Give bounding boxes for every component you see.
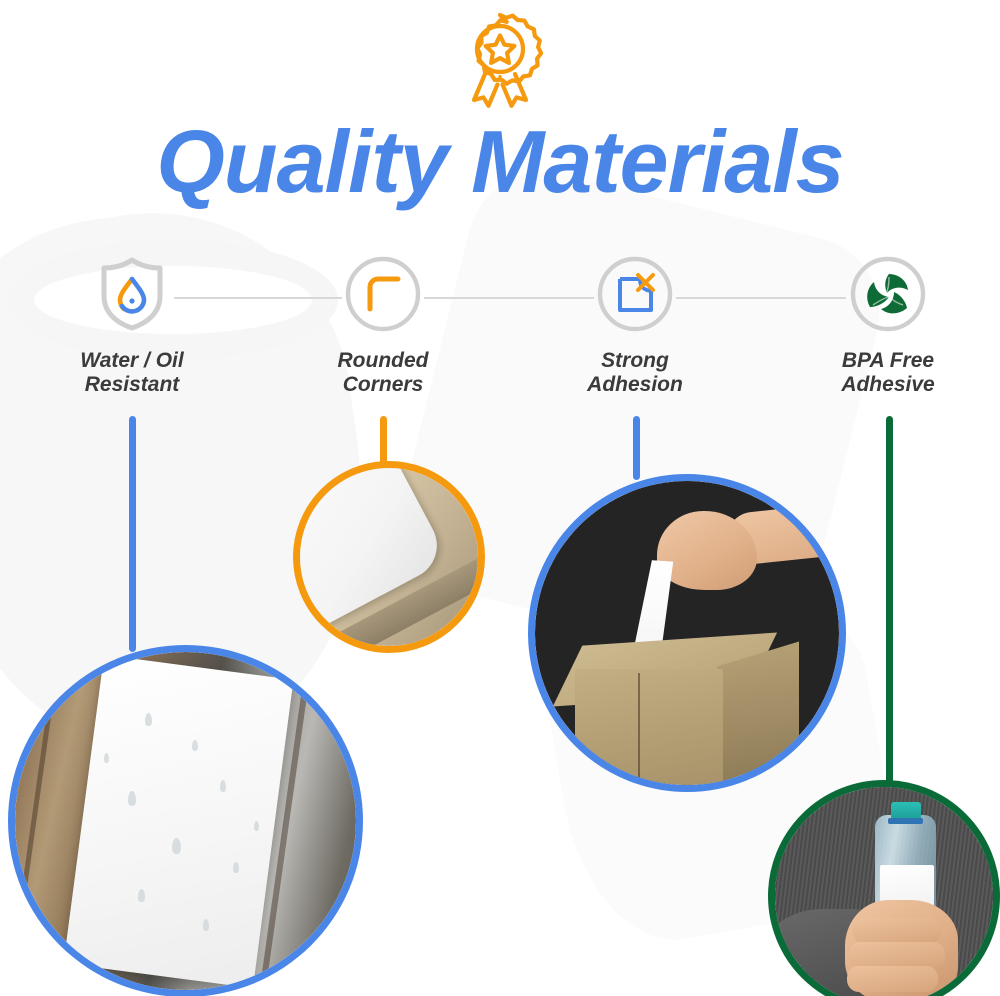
feature-water-oil-resistant: Water / Oil Resistant bbox=[37, 255, 227, 398]
page-title: Quality Materials bbox=[0, 118, 1000, 206]
rounded-corner-label-closeup-photo bbox=[293, 461, 485, 653]
rounded-corner-icon bbox=[344, 255, 422, 333]
hand-holding-labeled-bottle-photo bbox=[768, 780, 1000, 996]
hand-peeling-label-from-box-photo bbox=[528, 474, 846, 792]
connector-stem-bpa-free-adhesive bbox=[886, 416, 893, 784]
connector-stem-strong-adhesion bbox=[633, 416, 640, 480]
three-leaf-recycle-icon bbox=[849, 255, 927, 333]
feature-bpa-free-adhesive: BPA Free Adhesive bbox=[793, 255, 983, 398]
connector-stem-rounded-corners bbox=[380, 416, 387, 466]
award-ribbon-star-icon bbox=[452, 8, 548, 118]
feature-label: Rounded Corners bbox=[288, 349, 478, 398]
connector-stem-water-oil-resistant bbox=[129, 416, 136, 652]
feature-label: Water / Oil Resistant bbox=[37, 349, 227, 398]
no-peel-corner-icon bbox=[596, 255, 674, 333]
shield-water-droplet-icon bbox=[93, 255, 171, 333]
infographic-canvas: Quality Materials Water / Oil Resistant … bbox=[0, 0, 1000, 996]
feature-rounded-corners: Rounded Corners bbox=[288, 255, 478, 398]
feature-label: BPA Free Adhesive bbox=[793, 349, 983, 398]
feature-strong-adhesion: Strong Adhesion bbox=[540, 255, 730, 398]
feature-label: Strong Adhesion bbox=[540, 349, 730, 398]
wet-label-on-wood-photo bbox=[8, 645, 363, 996]
